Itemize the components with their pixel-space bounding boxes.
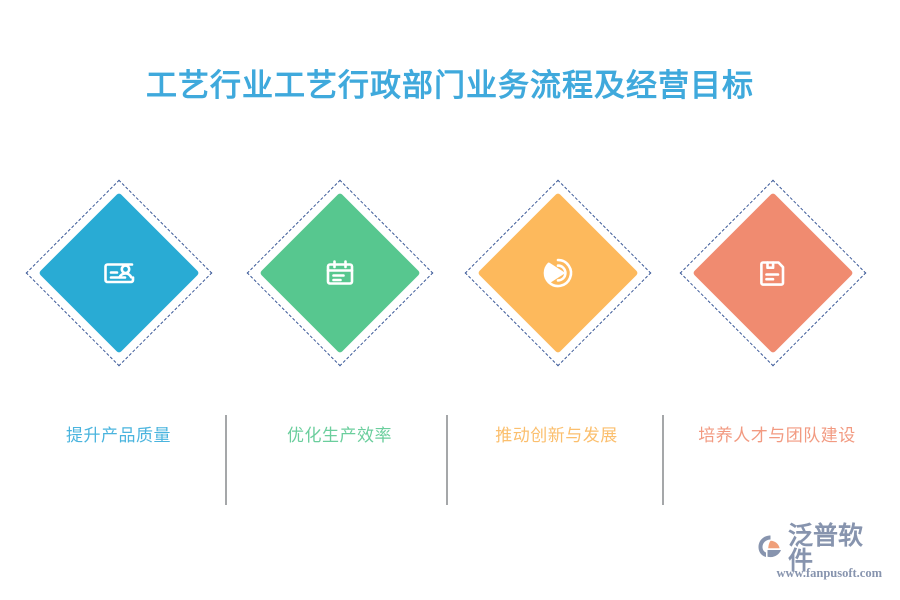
diamond-item-4[interactable] [665, 175, 880, 370]
logo-url: www.fanpusoft.com [756, 566, 882, 581]
notepad-icon [318, 251, 362, 295]
label-row: 提升产品质量 优化生产效率 推动创新与发展 培养人才与团队建设 [0, 415, 900, 510]
label-cell-1: 提升产品质量 [11, 415, 226, 510]
document-icon [751, 251, 795, 295]
diamond-item-2[interactable] [232, 175, 447, 370]
diamond-item-3[interactable] [450, 175, 665, 370]
brand-logo: 泛普软件 www.fanpusoft.com [756, 532, 882, 582]
page-title: 工艺行业工艺行政部门业务流程及经营目标 [0, 60, 900, 105]
label-divider-2 [446, 415, 448, 505]
step-label-2: 优化生产效率 [232, 421, 447, 446]
logo-top-row: 泛普软件 [756, 532, 882, 564]
step-label-1: 提升产品质量 [11, 421, 226, 446]
id-card-icon [97, 251, 141, 295]
step-label-3: 推动创新与发展 [450, 421, 663, 446]
fanpu-logo-icon [756, 532, 786, 565]
label-cell-3: 推动创新与发展 [450, 415, 663, 510]
diamond-item-1[interactable] [11, 175, 226, 370]
label-cell-2: 优化生产效率 [232, 415, 447, 510]
label-cell-4: 培养人才与团队建设 [665, 415, 889, 510]
progress-arrow-icon [536, 251, 580, 295]
label-divider-3 [662, 415, 664, 505]
label-divider-1 [225, 415, 227, 505]
step-label-4: 培养人才与团队建设 [665, 421, 889, 446]
diamond-row [0, 175, 900, 370]
